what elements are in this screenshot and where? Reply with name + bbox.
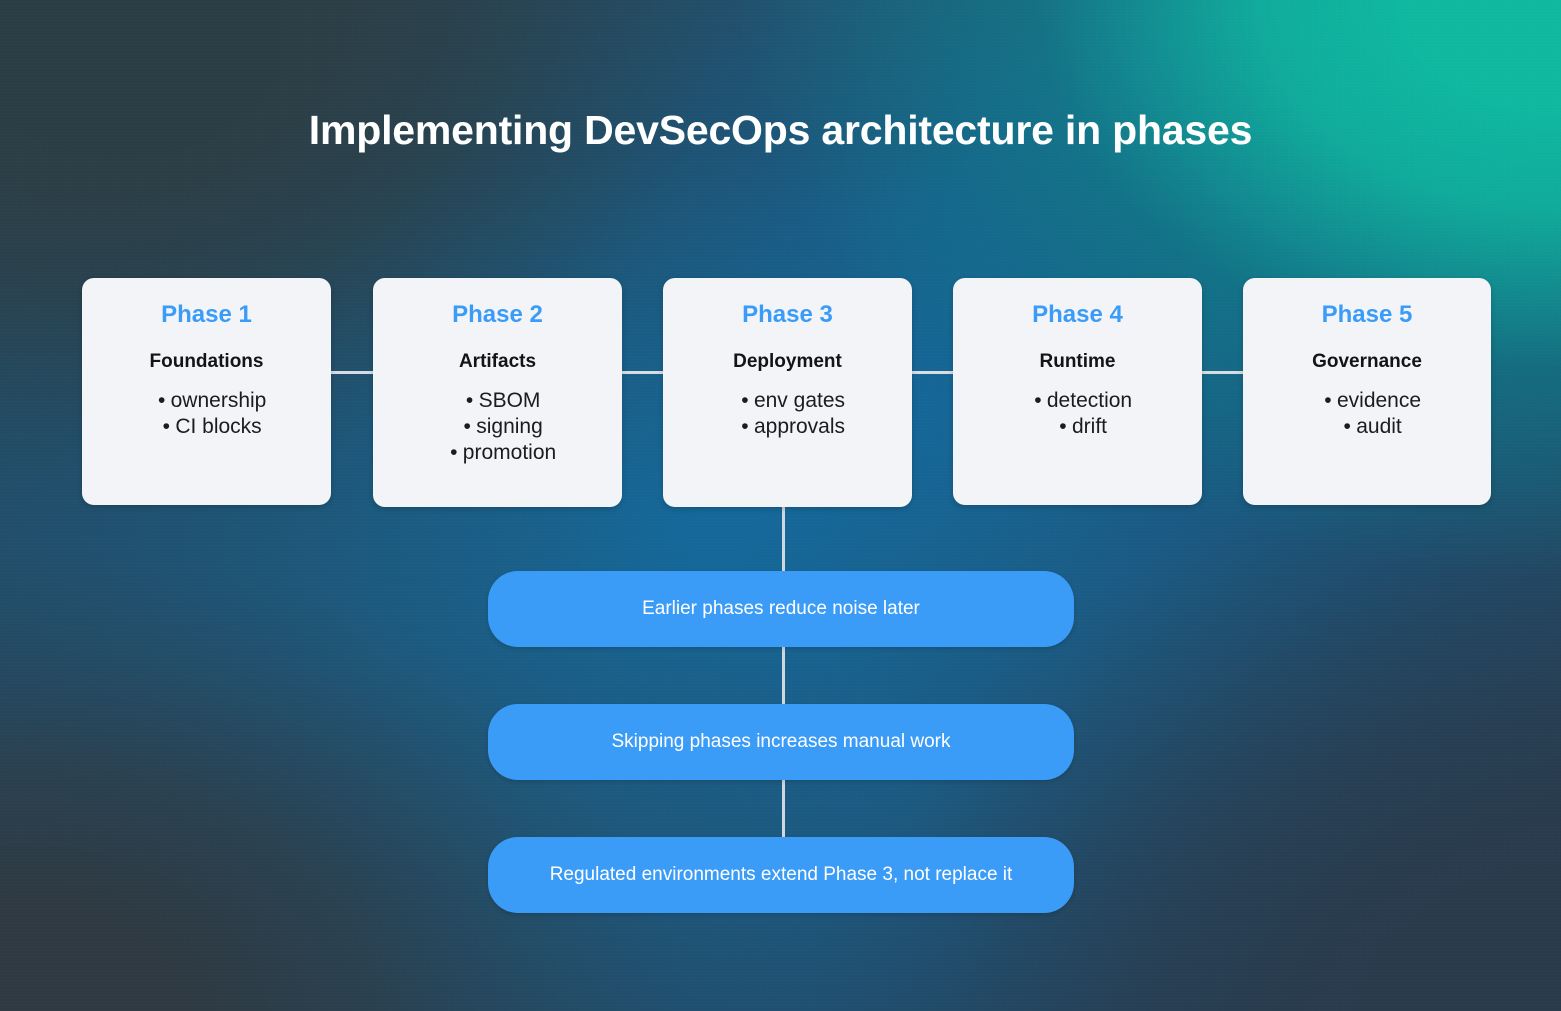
diagram-canvas: Implementing DevSecOps architecture in p… bbox=[0, 0, 1561, 1011]
note-pill-1[interactable]: Earlier phases reduce noise later bbox=[488, 571, 1074, 647]
phase-card-1-name: Phase 1 bbox=[100, 300, 313, 330]
list-item: • approvals bbox=[736, 414, 845, 440]
phase-card-5-name: Phase 5 bbox=[1261, 300, 1473, 330]
bullet-icon: • bbox=[1029, 388, 1047, 414]
phase-card-5-heading: Governance bbox=[1261, 350, 1473, 374]
phase-card-3-heading: Deployment bbox=[681, 350, 894, 374]
phase-card-5[interactable]: Phase 5 Governance • evidence • audit bbox=[1243, 278, 1491, 505]
connector-phase2-phase3 bbox=[621, 371, 665, 374]
bullet-icon: • bbox=[153, 388, 171, 414]
bullet-icon: • bbox=[1338, 414, 1356, 440]
phase-card-4-heading: Runtime bbox=[971, 350, 1184, 374]
connector-note1-note2 bbox=[782, 646, 785, 705]
list-item: • audit bbox=[1338, 414, 1402, 440]
phase-card-5-items: • evidence • audit bbox=[1261, 388, 1473, 440]
note-pill-2[interactable]: Skipping phases increases manual work bbox=[488, 704, 1074, 780]
bullet-icon: • bbox=[736, 388, 754, 414]
bullet-icon: • bbox=[461, 388, 479, 414]
phase-card-3-items: • env gates • approvals bbox=[681, 388, 894, 440]
connector-phase1-phase2 bbox=[331, 371, 374, 374]
note-pill-3[interactable]: Regulated environments extend Phase 3, n… bbox=[488, 837, 1074, 913]
phase-card-4-name: Phase 4 bbox=[971, 300, 1184, 330]
note-pill-1-label: Earlier phases reduce noise later bbox=[642, 598, 920, 620]
list-item-label: signing bbox=[476, 414, 543, 440]
bullet-icon: • bbox=[458, 414, 476, 440]
list-item-label: CI blocks bbox=[175, 414, 261, 440]
phase-card-3-name: Phase 3 bbox=[681, 300, 894, 330]
phase-card-3[interactable]: Phase 3 Deployment • env gates • approva… bbox=[663, 278, 912, 507]
note-pill-2-label: Skipping phases increases manual work bbox=[611, 731, 950, 753]
list-item-label: approvals bbox=[754, 414, 845, 440]
list-item-label: promotion bbox=[463, 440, 556, 466]
phase-card-1[interactable]: Phase 1 Foundations • ownership • CI blo… bbox=[82, 278, 331, 505]
connector-phase3-note1 bbox=[782, 506, 785, 572]
connector-note2-note3 bbox=[782, 779, 785, 838]
connector-phase3-phase4 bbox=[911, 371, 954, 374]
phase-card-1-heading: Foundations bbox=[100, 350, 313, 374]
bullet-icon: • bbox=[736, 414, 754, 440]
bullet-icon: • bbox=[1054, 414, 1072, 440]
list-item: • signing bbox=[458, 414, 543, 440]
phase-card-4[interactable]: Phase 4 Runtime • detection • drift bbox=[953, 278, 1202, 505]
list-item: • env gates bbox=[736, 388, 845, 414]
list-item: • promotion bbox=[445, 440, 556, 466]
phase-card-2-items: • SBOM • signing • promotion bbox=[391, 388, 604, 466]
phase-card-2[interactable]: Phase 2 Artifacts • SBOM • signing • pro… bbox=[373, 278, 622, 507]
bullet-icon: • bbox=[157, 414, 175, 440]
bullet-icon: • bbox=[1319, 388, 1337, 414]
list-item-label: SBOM bbox=[479, 388, 541, 414]
list-item-label: drift bbox=[1072, 414, 1107, 440]
note-pill-3-label: Regulated environments extend Phase 3, n… bbox=[550, 864, 1013, 886]
list-item: • CI blocks bbox=[157, 414, 261, 440]
list-item: • SBOM bbox=[461, 388, 541, 414]
list-item-label: evidence bbox=[1337, 388, 1421, 414]
list-item-label: env gates bbox=[754, 388, 845, 414]
bullet-icon: • bbox=[445, 440, 463, 466]
list-item: • evidence bbox=[1319, 388, 1421, 414]
page-title: Implementing DevSecOps architecture in p… bbox=[0, 106, 1561, 155]
list-item: • ownership bbox=[153, 388, 267, 414]
phase-card-2-heading: Artifacts bbox=[391, 350, 604, 374]
connector-phase4-phase5 bbox=[1201, 371, 1243, 374]
list-item-label: detection bbox=[1047, 388, 1132, 414]
list-item-label: audit bbox=[1356, 414, 1402, 440]
phase-card-2-name: Phase 2 bbox=[391, 300, 604, 330]
list-item: • drift bbox=[1054, 414, 1107, 440]
list-item-label: ownership bbox=[171, 388, 267, 414]
list-item: • detection bbox=[1029, 388, 1132, 414]
phase-card-4-items: • detection • drift bbox=[971, 388, 1184, 440]
phase-card-1-items: • ownership • CI blocks bbox=[100, 388, 313, 440]
